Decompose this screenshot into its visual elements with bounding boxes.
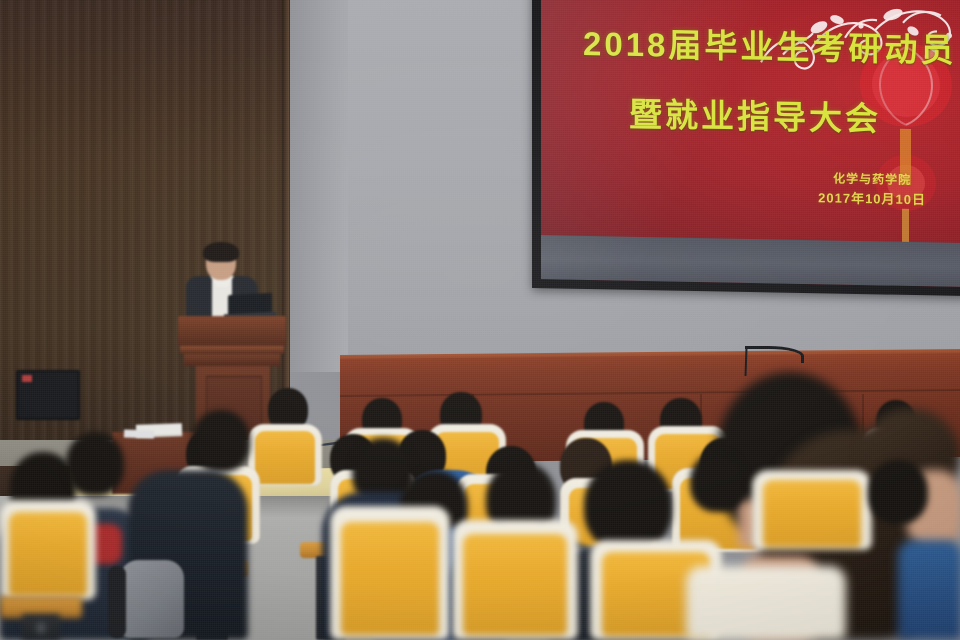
seat-cushion [9, 512, 88, 596]
seat-cushion [255, 431, 316, 483]
slide-date: 2017年10月10日 [818, 188, 926, 210]
slide-title-line-1: 2018届毕业生考研动员 [583, 27, 942, 68]
audience-head [66, 432, 124, 496]
slide-footer: 化学与药学院 2017年10月10日 [818, 168, 926, 210]
slide-title-line-2: 暨就业指导大会 [629, 98, 942, 138]
slide-organization: 化学与药学院 [818, 168, 926, 190]
microphone-icon [745, 346, 804, 363]
audience-shoulders [898, 540, 960, 640]
audience-head [868, 460, 928, 524]
auditorium-seat [686, 566, 846, 640]
projection-screen-frame: 2018届毕业生考研动员 暨就业指导大会 化学与药学院 2017年10月10日 [532, 0, 960, 296]
audience-head [192, 410, 250, 472]
seat-cushion [763, 480, 861, 547]
podium-midband [184, 354, 280, 366]
auditorium-seat [0, 500, 96, 600]
auditorium-seat [452, 520, 578, 640]
paper-stack-secondary [124, 429, 154, 438]
podium-lip [180, 346, 284, 354]
seat-shell [686, 566, 846, 640]
back-wall-shadow [288, 0, 348, 372]
audience-head [584, 460, 672, 552]
seat-cushion [463, 534, 566, 635]
auditorium-seat [330, 506, 450, 640]
wall-monitor [16, 370, 80, 420]
backpack-strap [108, 566, 126, 638]
auditorium-photo: 2018届毕业生考研动员 暨就业指导大会 化学与药学院 2017年10月10日 [0, 0, 960, 640]
backpack [120, 560, 184, 638]
podium-top-surface [178, 316, 286, 346]
monitor-logo-icon [22, 375, 32, 382]
audience-head [690, 452, 746, 512]
seat-cushion [341, 522, 439, 635]
slide-bottom-band [541, 235, 960, 287]
projection-screen-surface: 2018届毕业生考研动员 暨就业指导大会 化学与药学院 2017年10月10日 [541, 0, 960, 287]
seat-pedestal [22, 614, 60, 640]
auditorium-seat [752, 470, 872, 550]
speaker-hair [203, 242, 239, 262]
